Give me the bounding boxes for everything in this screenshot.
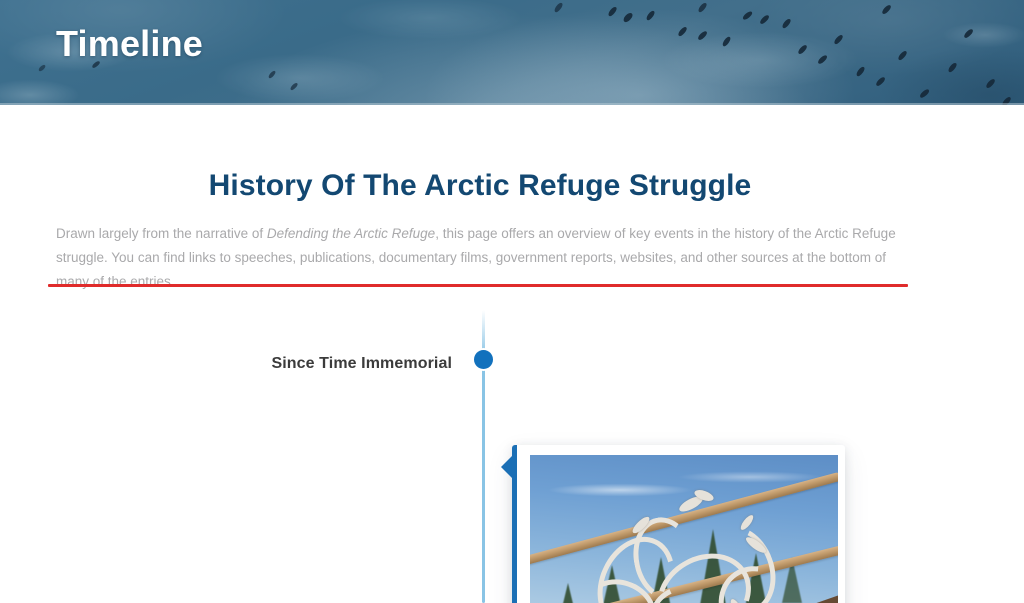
timeline-page: Timeline History Of The Arctic Refuge St… [0,0,1024,603]
page-banner: Timeline [0,0,1024,105]
page-title: Timeline [56,24,203,64]
timeline-marker-dot[interactable] [474,350,493,369]
photo-spruce-tree [554,583,582,603]
card-pointer-arrow-icon [501,455,513,479]
timeline-entry-card[interactable]: The Long History Of The Gwich'in Homelan… [512,445,845,603]
card-image [530,455,838,603]
main-content: History Of The Arctic Refuge Struggle Dr… [0,105,1024,603]
timeline-entry-date: Since Time Immemorial [120,355,452,373]
timeline-track: Since Time Immemorial [0,105,1024,603]
